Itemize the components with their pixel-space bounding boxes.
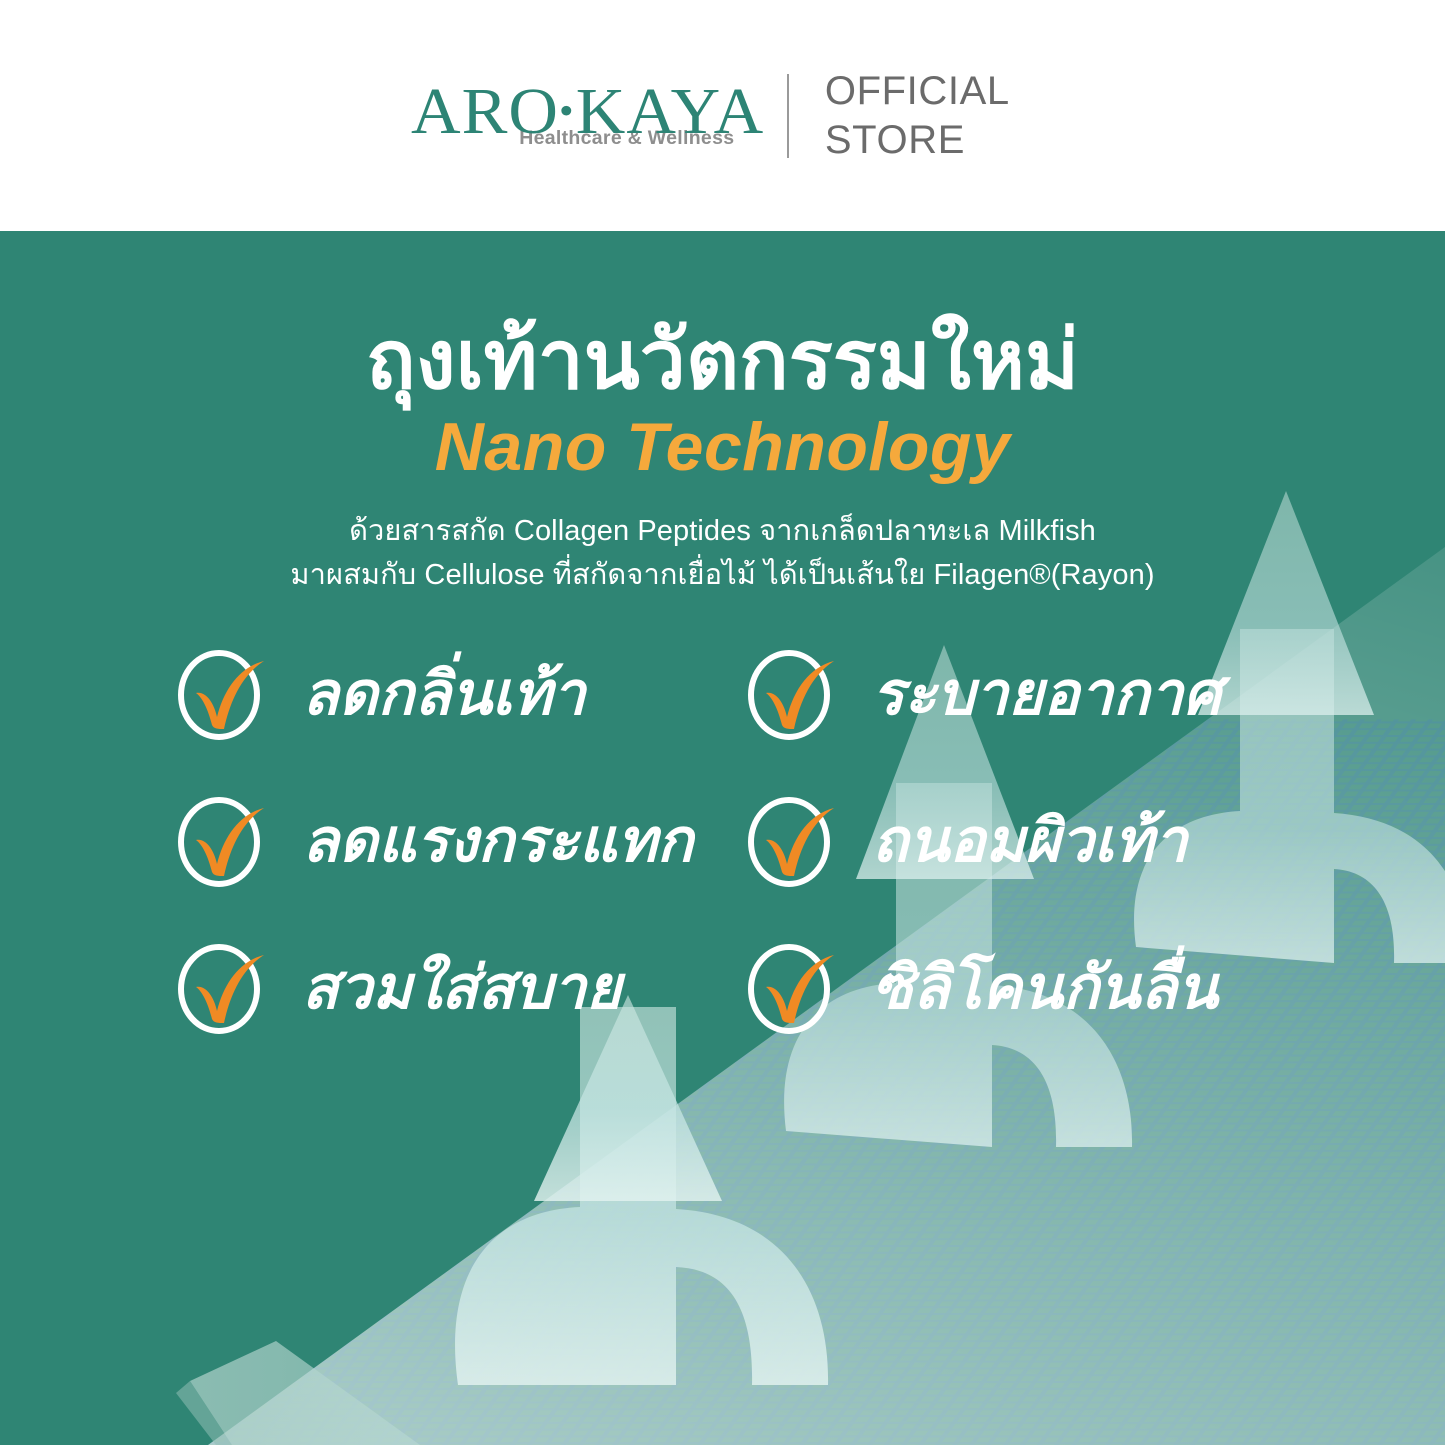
poster-canvas: ARO•KAYA Healthcare & Wellness OFFICIAL … bbox=[0, 0, 1445, 1445]
plane-edge-slab bbox=[190, 1341, 420, 1445]
brand-name-kaya: KAYA bbox=[576, 75, 765, 148]
check-circle-icon bbox=[742, 643, 842, 743]
feature-item-3: ลดแรงกระแทก bbox=[172, 790, 742, 890]
check-circle-icon bbox=[172, 643, 272, 743]
vertical-divider bbox=[787, 74, 789, 158]
check-circle-icon bbox=[742, 937, 842, 1037]
feature-label-5: สวมใส่สบาย bbox=[302, 956, 621, 1019]
check-circle-icon bbox=[742, 790, 842, 890]
rising-arrow-1 bbox=[455, 1007, 828, 1385]
page-subtitle-nano-technology: Nano Technology bbox=[0, 407, 1445, 487]
feature-label-3: ลดแรงกระแทก bbox=[302, 809, 693, 872]
feature-item-4: ถนอมผิวเท้า bbox=[742, 790, 1312, 890]
brand-separator-dot-icon: • bbox=[559, 88, 576, 133]
official-store-line-2: STORE bbox=[825, 116, 1010, 165]
plane-edge-side bbox=[176, 1381, 232, 1445]
hero-description-line-1: ด้วยสารสกัด Collagen Peptides จากเกล็ดปล… bbox=[0, 509, 1445, 553]
feature-label-6: ซิลิโคนกันลื่น bbox=[872, 956, 1218, 1019]
brand-header: ARO•KAYA Healthcare & Wellness OFFICIAL … bbox=[0, 0, 1445, 231]
check-circle-icon bbox=[172, 790, 272, 890]
brand-name-aro: ARO bbox=[411, 75, 559, 148]
feature-item-2: ระบายอากาศ bbox=[742, 643, 1312, 743]
logo-lockup: ARO•KAYA Healthcare & Wellness OFFICIAL … bbox=[411, 67, 1009, 165]
feature-label-1: ลดกลิ่นเท้า bbox=[302, 662, 586, 725]
feature-item-5: สวมใส่สบาย bbox=[172, 937, 742, 1037]
official-store-label: OFFICIAL STORE bbox=[825, 67, 1010, 165]
hero-panel: ถุงเท้านวัตกรรมใหม่ Nano Technology ด้วย… bbox=[0, 231, 1445, 1445]
page-title: ถุงเท้านวัตกรรมใหม่ bbox=[0, 319, 1445, 403]
feature-item-6: ซิลิโคนกันลื่น bbox=[742, 937, 1312, 1037]
feature-label-2: ระบายอากาศ bbox=[872, 662, 1221, 725]
feature-label-4: ถนอมผิวเท้า bbox=[872, 809, 1188, 872]
official-store-line-1: OFFICIAL bbox=[825, 67, 1010, 116]
arokaya-logo: ARO•KAYA Healthcare & Wellness bbox=[411, 81, 781, 151]
hero-text-block: ถุงเท้านวัตกรรมใหม่ Nano Technology ด้วย… bbox=[0, 319, 1445, 597]
feature-item-1: ลดกลิ่นเท้า bbox=[172, 643, 742, 743]
feature-list: ลดกลิ่นเท้า ระบายอากาศ bbox=[172, 643, 1312, 1037]
hero-description: ด้วยสารสกัด Collagen Peptides จากเกล็ดปล… bbox=[0, 509, 1445, 597]
hero-description-line-2: มาผสมกับ Cellulose ที่สกัดจากเยื่อไม้ ได… bbox=[0, 553, 1445, 597]
check-circle-icon bbox=[172, 937, 272, 1037]
brand-wordmark: ARO•KAYA bbox=[411, 81, 764, 144]
